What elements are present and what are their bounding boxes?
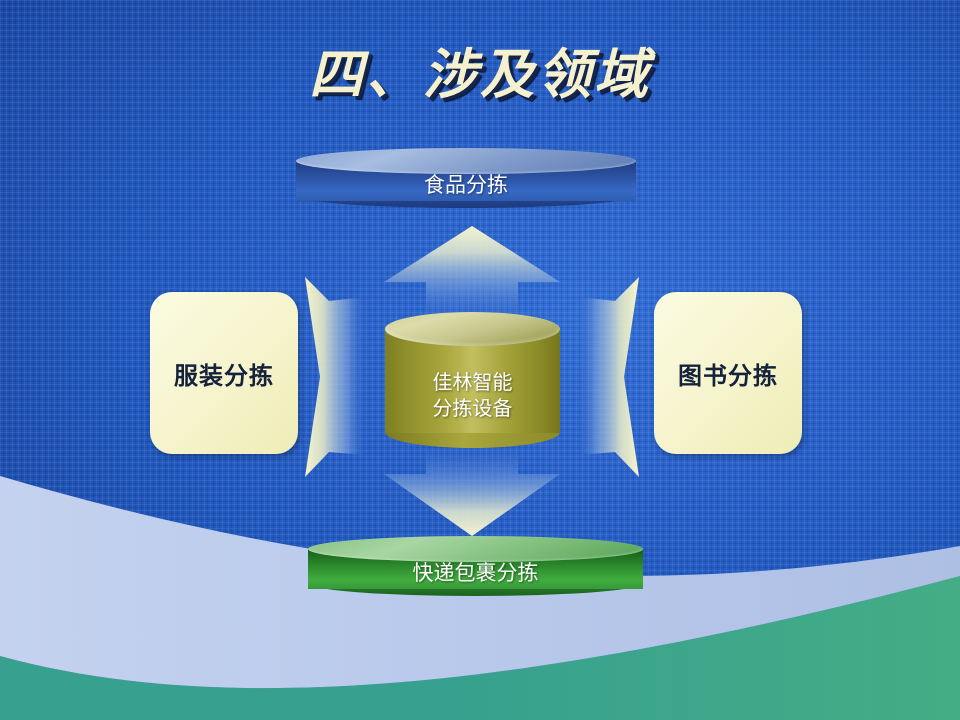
node-center-cylinder[interactable]: 佳林智能 分拣设备 [385, 312, 560, 444]
cylinder-top-ellipse [385, 312, 560, 346]
node-apparel-label: 服装分拣 [174, 356, 274, 391]
node-books-label: 图书分拣 [678, 356, 778, 391]
node-parcel-cylinder[interactable]: 快递包裹分拣 [308, 536, 643, 598]
node-center-label-line1: 佳林智能 [385, 370, 560, 396]
slide-canvas: 四、涉及领域 [0, 0, 960, 720]
cylinder-top-ellipse [296, 148, 636, 174]
slide-title: 四、涉及领域 [0, 30, 960, 109]
node-center-label-line2: 分拣设备 [385, 396, 560, 422]
node-apparel-box[interactable]: 服装分拣 [150, 292, 298, 454]
node-books-box[interactable]: 图书分拣 [654, 292, 802, 454]
node-food-cylinder[interactable]: 食品分拣 [296, 148, 636, 210]
cylinder-top-ellipse [308, 536, 643, 562]
node-center-label: 佳林智能 分拣设备 [385, 370, 560, 421]
node-parcel-label: 快递包裹分拣 [308, 560, 643, 587]
node-food-label: 食品分拣 [296, 172, 636, 199]
